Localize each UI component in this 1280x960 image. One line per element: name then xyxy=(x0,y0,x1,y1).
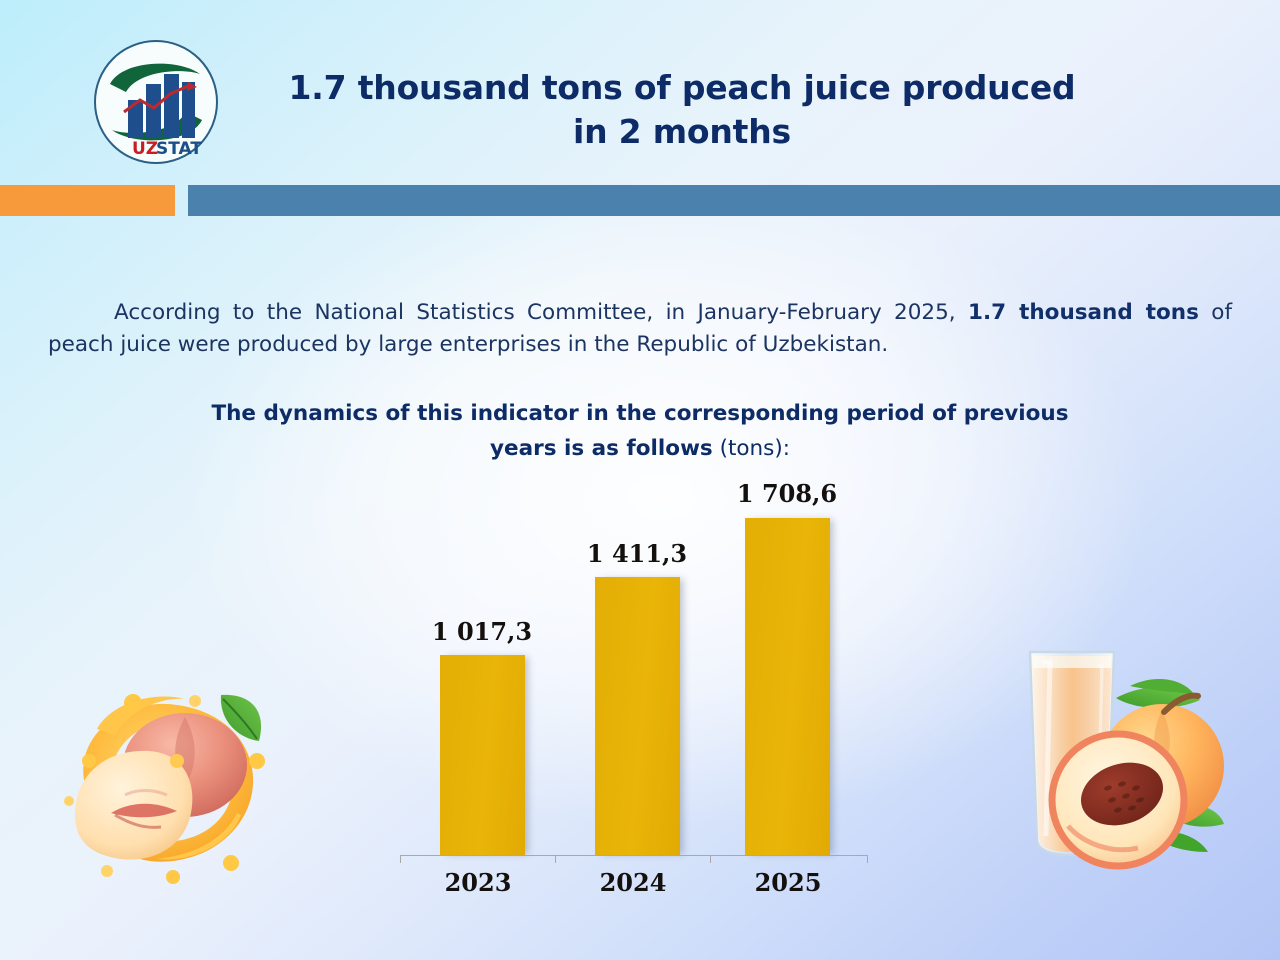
bar-group: 1 017,3 xyxy=(440,480,528,856)
page-header: UZ STAT 1.7 thousand tons of peach juice… xyxy=(0,0,1280,183)
accent-band xyxy=(0,185,1280,217)
axis-category-label: 2023 xyxy=(408,868,548,897)
chart-subheading-line-1: The dynamics of this indicator in the co… xyxy=(211,401,1068,426)
peach-juice-glass-image xyxy=(1012,638,1244,888)
table-row xyxy=(440,655,525,856)
lede-part-1: According to the National Statistics Com… xyxy=(114,300,968,325)
page-title-line-1: 1.7 thousand tons of peach juice produce… xyxy=(232,66,1132,110)
axis-category-label: 2025 xyxy=(718,868,858,897)
axis-tick xyxy=(710,855,711,863)
peach-juice-splash-image xyxy=(45,665,310,905)
chart-subheading-line-2: years is as follows xyxy=(490,436,713,461)
chart-subheading-units: (tons): xyxy=(713,436,790,461)
bar-group: 1 411,3 xyxy=(595,480,683,856)
chart-plot-area: 1 017,3 1 411,3 1 708,6 2023 2024 2025 xyxy=(395,480,875,856)
page-title-line-2: in 2 months xyxy=(232,110,1132,154)
logo-text-stat: STAT xyxy=(156,139,202,159)
table-row xyxy=(595,577,680,856)
chart-subheading: The dynamics of this indicator in the co… xyxy=(180,396,1100,466)
infographic-page: UZ STAT 1.7 thousand tons of peach juice… xyxy=(0,0,1280,960)
bar-chart: 1 017,3 1 411,3 1 708,6 2023 2024 2025 xyxy=(395,480,875,900)
bar-value-label: 1 017,3 xyxy=(416,617,548,646)
axis-tick xyxy=(555,855,556,863)
page-title: 1.7 thousand tons of peach juice produce… xyxy=(232,66,1132,154)
uzstat-logo: UZ STAT xyxy=(92,38,220,166)
lede-paragraph: According to the National Statistics Com… xyxy=(48,297,1232,361)
axis-tick xyxy=(400,855,401,863)
bar-value-label: 1 411,3 xyxy=(571,539,703,568)
accent-band-blue xyxy=(188,185,1280,216)
axis-tick xyxy=(867,855,868,863)
lede-highlight: 1.7 thousand tons xyxy=(968,300,1199,325)
bar-value-label: 1 708,6 xyxy=(721,479,853,508)
bar-group: 1 708,6 xyxy=(745,480,833,856)
table-row xyxy=(745,518,830,856)
chart-axis-line xyxy=(400,855,868,856)
logo-text-uz: UZ xyxy=(132,139,158,159)
accent-band-orange xyxy=(0,185,175,216)
axis-category-label: 2024 xyxy=(563,868,703,897)
